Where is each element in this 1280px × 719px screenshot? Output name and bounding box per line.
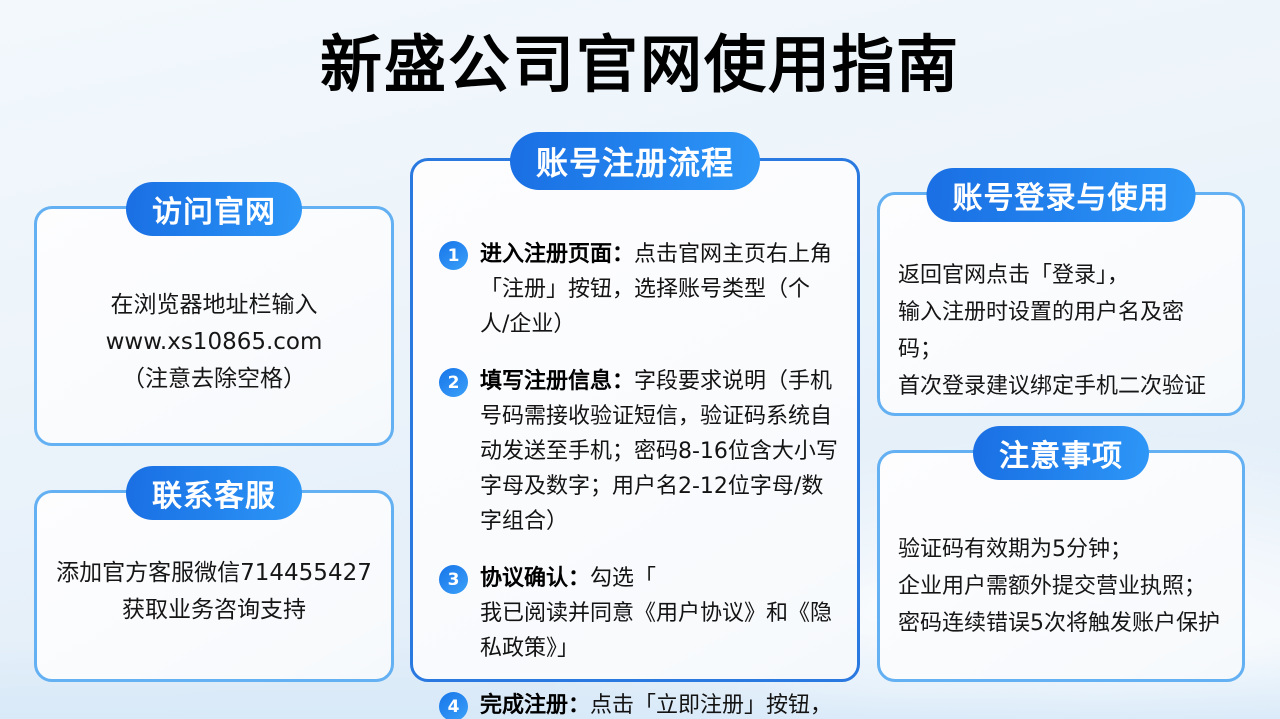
registration-step-list: 1 进入注册页面：点击官网主页右上角「注册」按钮，选择账号类型（个人/企业） 2… (439, 237, 839, 719)
step-label: 填写注册信息： (480, 369, 634, 394)
card-line: 获取业务咨询支持 (47, 592, 381, 629)
card-line: 输入注册时设置的用户名及密码； (898, 294, 1224, 368)
step-number-badge: 2 (439, 368, 468, 397)
card-line: 首次登录建议绑定手机二次验证 (898, 368, 1224, 405)
card-notes: 注意事项 验证码有效期为5分钟； 企业用户需额外提交营业执照； 密码连续错误5次… (877, 450, 1245, 682)
card-registration-flow: 账号注册流程 1 进入注册页面：点击官网主页右上角「注册」按钮，选择账号类型（个… (410, 158, 860, 682)
card-line: 密码连续错误5次将触发账户保护 (898, 605, 1224, 642)
step-number-badge: 3 (439, 565, 468, 594)
card-heading-registration-flow: 账号注册流程 (510, 132, 760, 190)
step-number-badge: 4 (439, 692, 468, 719)
card-line: 验证码有效期为5分钟； (898, 531, 1224, 568)
card-heading-visit-website: 访问官网 (126, 182, 302, 236)
card-line: 返回官网点击「登录」， (898, 257, 1224, 294)
card-line: www.xs10865.com (55, 324, 373, 361)
registration-step: 3 协议确认：勾选「 我已阅读并同意《用户协议》和《隐私政策》」 (439, 561, 839, 666)
step-number-badge: 1 (439, 241, 468, 270)
step-label: 进入注册页面： (480, 242, 634, 267)
registration-step: 1 进入注册页面：点击官网主页右上角「注册」按钮，选择账号类型（个人/企业） (439, 237, 839, 342)
card-heading-login-and-usage: 账号登录与使用 (927, 168, 1196, 222)
registration-step: 4 完成注册：点击「立即注册」按钮， 根据提示完成邮箱验证（可选） (439, 688, 839, 719)
card-line: 在浏览器地址栏输入 (55, 287, 373, 324)
step-text: 协议确认：勾选「 我已阅读并同意《用户协议》和《隐私政策》」 (480, 561, 839, 666)
card-heading-contact-support: 联系客服 (126, 466, 302, 520)
card-line: 企业用户需额外提交营业执照； (898, 568, 1224, 605)
card-login-and-usage: 账号登录与使用 返回官网点击「登录」， 输入注册时设置的用户名及密码； 首次登录… (877, 192, 1245, 416)
card-line: 添加官方客服微信714455427 (47, 555, 381, 592)
step-text: 填写注册信息：字段要求说明（手机号码需接收验证短信，验证码系统自动发送至手机；密… (480, 364, 839, 539)
page-title: 新盛公司官网使用指南 (0, 14, 1280, 104)
card-contact-support: 联系客服 添加官方客服微信714455427 获取业务咨询支持 (34, 490, 394, 682)
step-text: 进入注册页面：点击官网主页右上角「注册」按钮，选择账号类型（个人/企业） (480, 237, 839, 342)
registration-step: 2 填写注册信息：字段要求说明（手机号码需接收验证短信，验证码系统自动发送至手机… (439, 364, 839, 539)
step-label: 完成注册： (480, 693, 590, 718)
step-label: 协议确认： (480, 566, 590, 591)
card-visit-website: 访问官网 在浏览器地址栏输入 www.xs10865.com （注意去除空格） (34, 206, 394, 446)
step-text: 完成注册：点击「立即注册」按钮， 根据提示完成邮箱验证（可选） (480, 688, 832, 719)
card-heading-notes: 注意事项 (973, 426, 1149, 480)
card-line: （注意去除空格） (55, 361, 373, 398)
